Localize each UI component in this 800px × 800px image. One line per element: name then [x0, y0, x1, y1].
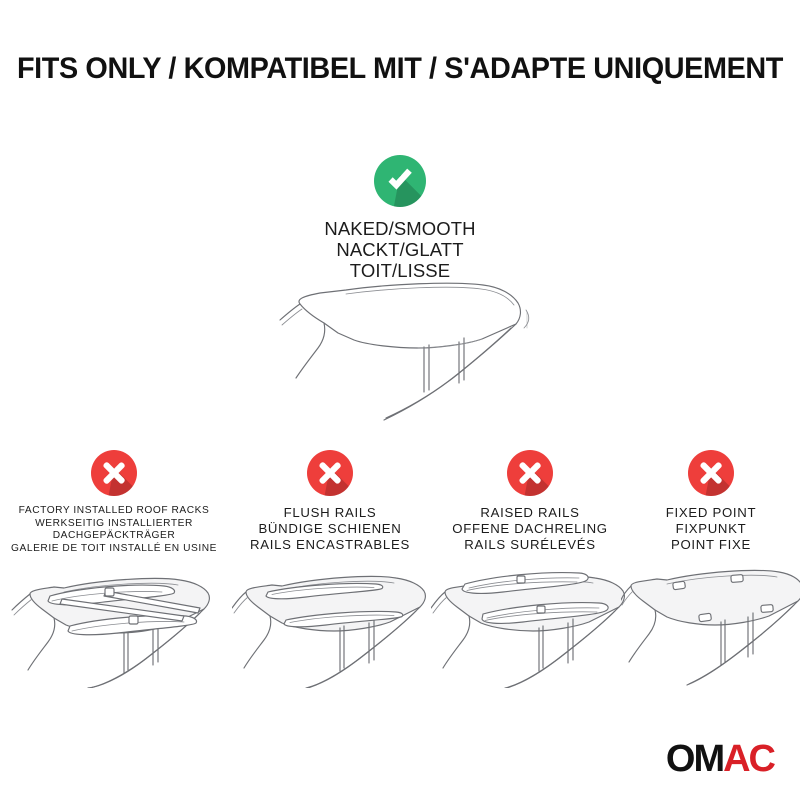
rejected-item-label: FACTORY INSTALLED ROOF RACKS WERKSEITIG … — [8, 505, 220, 555]
rejected-item-label: FIXED POINT FIXPUNKT POINT FIXE — [628, 505, 794, 552]
rejected-label-line-1: RAISED RAILS — [432, 505, 628, 521]
rejected-item-fixed-point: FIXED POINT FIXPUNKT POINT FIXE — [628, 450, 794, 552]
logo-text-red: AC — [723, 738, 774, 780]
x-circle-icon — [91, 450, 137, 496]
x-circle-icon — [307, 450, 353, 496]
approved-label: NAKED/SMOOTH NACKT/GLATT TOIT/LISSE — [250, 218, 550, 281]
rejected-label-line-3: RAILS ENCASTRABLES — [233, 537, 427, 553]
rejected-label-line-3: RAILS SURÉLEVÉS — [432, 537, 628, 553]
rejected-label-line-2: WERKSEITIG INSTALLIERTER — [8, 518, 220, 531]
rejected-label-line-1: FACTORY INSTALLED ROOF RACKS — [8, 505, 220, 518]
approved-label-line-2: NACKT/GLATT — [250, 239, 550, 260]
rejected-label-line-4: GALERIE DE TOIT INSTALLÉ EN USINE — [8, 543, 220, 556]
approved-roof-type: NAKED/SMOOTH NACKT/GLATT TOIT/LISSE — [250, 155, 550, 281]
rejected-label-line-1: FIXED POINT — [628, 505, 794, 521]
flush-rails-illustration — [232, 558, 428, 693]
rejected-label-line-3: DACHGEPÄCKTRÄGER — [8, 530, 220, 543]
rejected-item-label: FLUSH RAILS BÜNDIGE SCHIENEN RAILS ENCAS… — [233, 505, 427, 552]
omac-logo: OMAC — [666, 740, 774, 778]
rejected-label-line-2: OFFENE DACHRELING — [432, 521, 628, 537]
page-title: FITS ONLY / KOMPATIBEL MIT / S'ADAPTE UN… — [16, 52, 784, 86]
naked-smooth-roof-illustration — [268, 276, 564, 426]
fixed-point-illustration — [621, 554, 800, 693]
rejected-label-line-1: FLUSH RAILS — [233, 505, 427, 521]
logo-text-dark: OM — [666, 738, 723, 780]
rejected-item-label: RAISED RAILS OFFENE DACHRELING RAILS SUR… — [432, 505, 628, 552]
x-circle-icon — [688, 450, 734, 496]
approved-label-line-1: NAKED/SMOOTH — [250, 218, 550, 239]
rejected-roof-types: FACTORY INSTALLED ROOF RACKS WERKSEITIG … — [0, 450, 800, 710]
rejected-label-line-3: POINT FIXE — [628, 537, 794, 553]
raised-rails-illustration — [431, 554, 629, 693]
rejected-item-raised-rails: RAISED RAILS OFFENE DACHRELING RAILS SUR… — [432, 450, 628, 552]
rejected-item-factory-installed-roof-racks: FACTORY INSTALLED ROOF RACKS WERKSEITIG … — [8, 450, 220, 555]
rejected-item-flush-rails: FLUSH RAILS BÜNDIGE SCHIENEN RAILS ENCAS… — [233, 450, 427, 552]
rejected-label-line-2: FIXPUNKT — [628, 521, 794, 537]
factory-roof-rack-illustration — [8, 558, 220, 693]
x-circle-icon — [507, 450, 553, 496]
rejected-label-line-2: BÜNDIGE SCHIENEN — [233, 521, 427, 537]
check-circle-icon — [374, 155, 426, 207]
